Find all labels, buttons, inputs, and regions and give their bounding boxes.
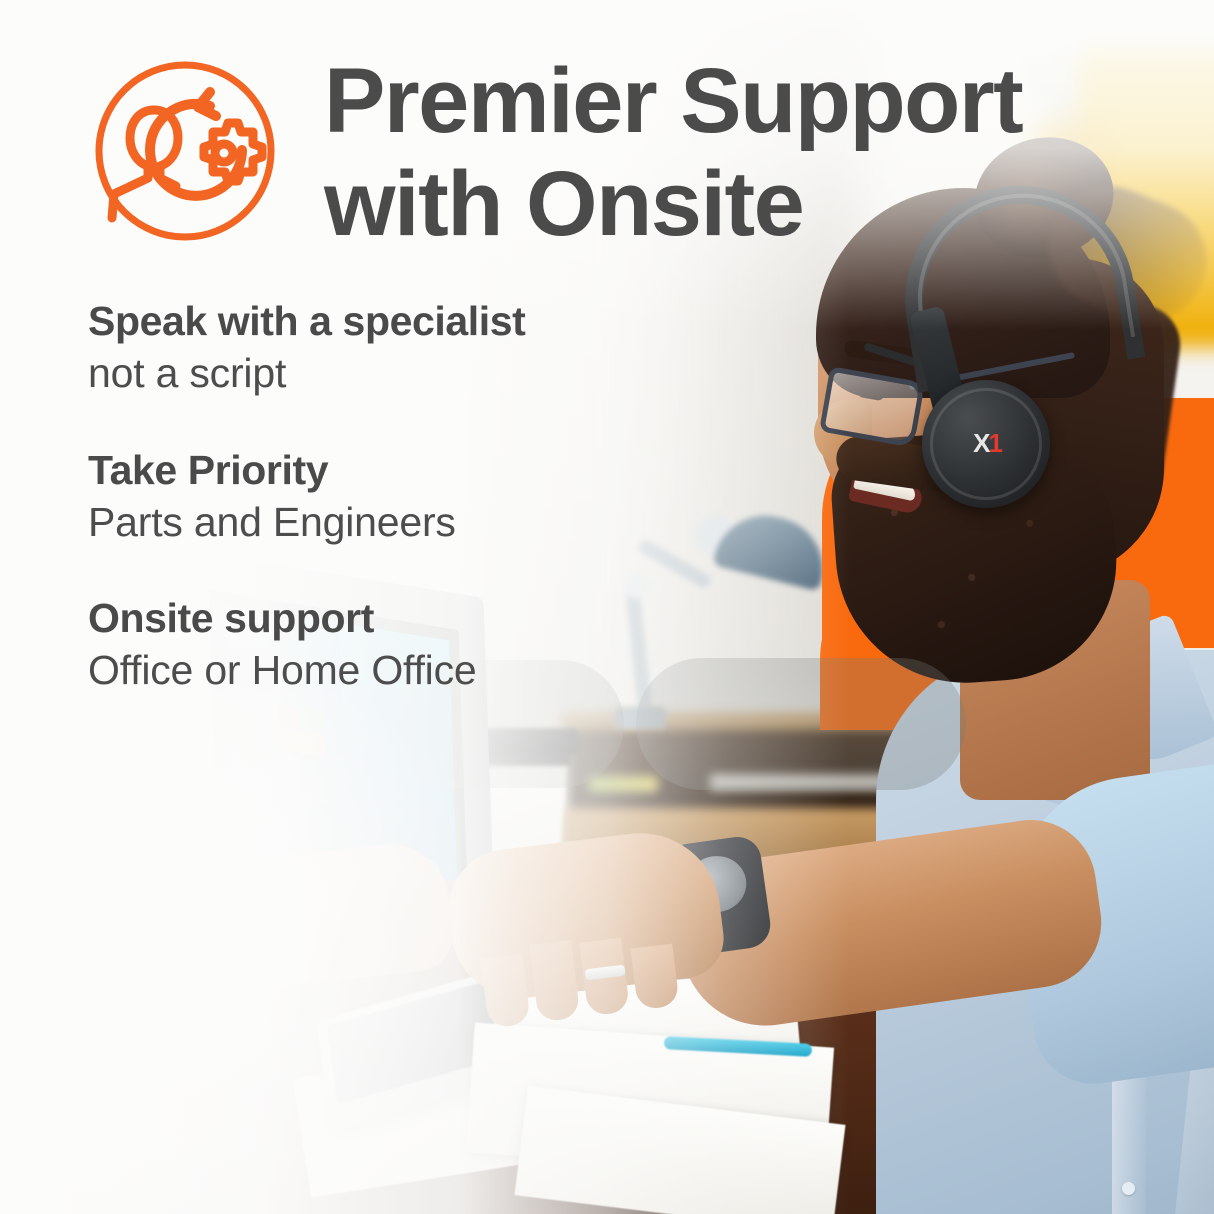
feature-item-specialist: Speak with a specialist not a script [88, 296, 728, 401]
feature-list: Speak with a specialist not a script Tak… [88, 296, 728, 742]
feature-item-priority: Take Priority Parts and Engineers [88, 445, 728, 550]
feature-title: Speak with a specialist [88, 296, 728, 347]
page-title-line-2: with Onsite [324, 153, 803, 255]
content-layer: Premier Support with Onsite Speak with a… [0, 0, 1214, 1214]
premier-support-poster: X1 [0, 0, 1214, 1214]
feature-subtitle: not a script [88, 347, 728, 400]
feature-subtitle: Parts and Engineers [88, 496, 728, 549]
feature-item-onsite: Onsite support Office or Home Office [88, 593, 728, 698]
premier-support-person-gear-icon [92, 58, 278, 244]
page-title: Premier Support with Onsite [324, 50, 1144, 256]
page-title-line-1: Premier Support [324, 50, 1022, 152]
feature-title: Take Priority [88, 445, 728, 496]
feature-subtitle: Office or Home Office [88, 644, 728, 697]
feature-title: Onsite support [88, 593, 728, 644]
